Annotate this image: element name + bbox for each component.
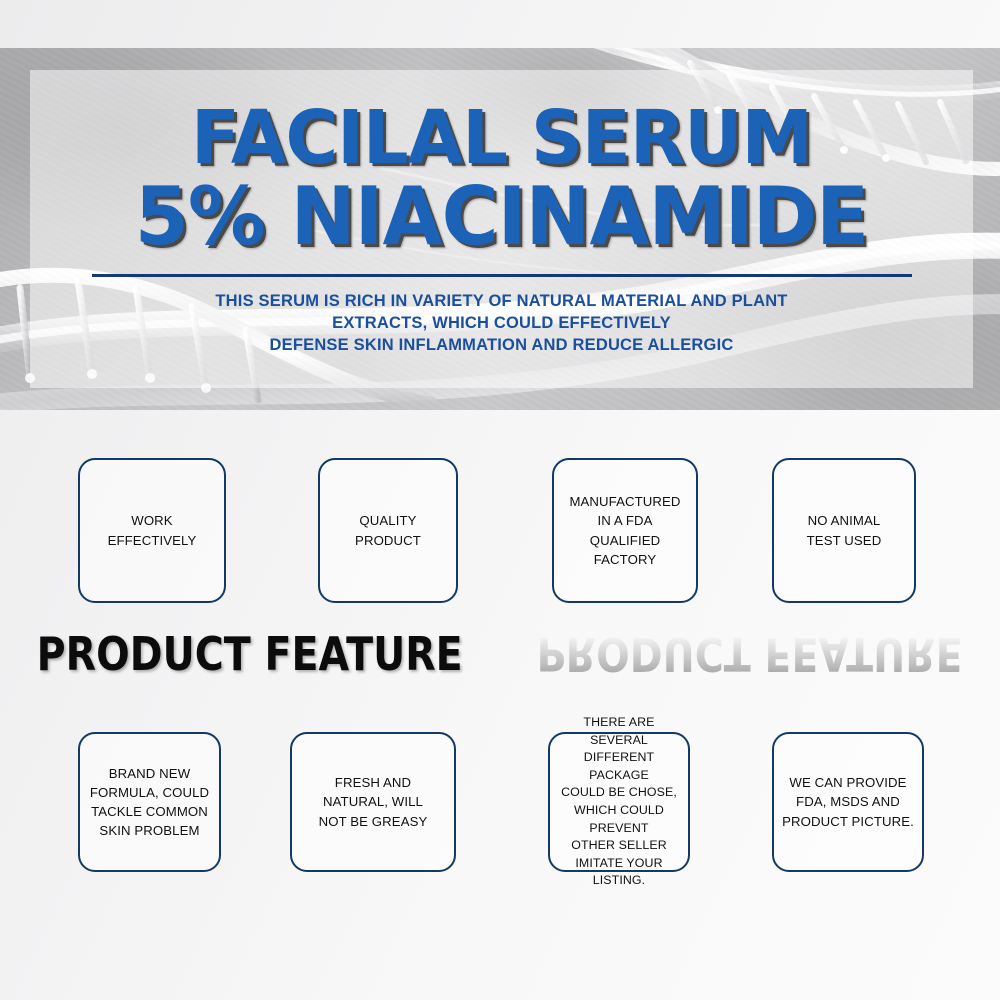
feature-box-package-options: THERE ARE SEVERAL DIFFERENT PACKAGE COUL… <box>548 732 690 872</box>
feature-box-fda-factory: MANUFACTURED IN A FDA QUALIFIED FACTORY <box>552 458 698 603</box>
product-title-line-1: FACILAL SERUM <box>44 70 959 175</box>
title-divider <box>92 274 912 277</box>
feature-box-label: QUALITY PRODUCT <box>355 511 421 549</box>
feature-box-label: FRESH AND NATURAL, WILL NOT BE GREASY <box>319 773 428 830</box>
feature-box-brand-new-formula: BRAND NEW FORMULA, COULD TACKLE COMMON S… <box>78 732 221 872</box>
feature-box-label: NO ANIMAL TEST USED <box>807 511 882 549</box>
feature-box-work-effectively: WORK EFFECTIVELY <box>78 458 226 603</box>
subtitle-line-1: THIS SERUM IS RICH IN VARIETY OF NATURAL… <box>30 291 973 313</box>
header-subtitle: THIS SERUM IS RICH IN VARIETY OF NATURAL… <box>30 291 973 356</box>
header-title-block: FACILAL SERUM 5% NIACINAMIDE THIS SERUM … <box>30 70 973 357</box>
section-heading-reflection: PRODUCT FEATURE <box>537 631 963 677</box>
feature-box-label: MANUFACTURED IN A FDA QUALIFIED FACTORY <box>569 492 680 569</box>
feature-box-fresh-and-natural: FRESH AND NATURAL, WILL NOT BE GREASY <box>290 732 456 872</box>
feature-box-quality-product: QUALITY PRODUCT <box>318 458 458 603</box>
product-title-line-2: 5% NIACINAMIDE <box>44 175 959 256</box>
feature-box-label: BRAND NEW FORMULA, COULD TACKLE COMMON S… <box>90 764 209 841</box>
infographic-page: FACILAL SERUM 5% NIACINAMIDE THIS SERUM … <box>0 0 1000 1000</box>
section-heading-text: PRODUCT FEATURE <box>37 631 463 677</box>
feature-box-fda-msds-documents: WE CAN PROVIDE FDA, MSDS AND PRODUCT PIC… <box>772 732 924 872</box>
section-heading-product-feature: PRODUCT FEATURE PRODUCT FEATURE <box>0 630 1000 677</box>
subtitle-line-2: EXTRACTS, WHICH COULD EFFECTIVELY <box>30 313 973 335</box>
header-photo-band: FACILAL SERUM 5% NIACINAMIDE THIS SERUM … <box>0 48 1000 410</box>
subtitle-line-3: DEFENSE SKIN INFLAMMATION AND REDUCE ALL… <box>30 335 973 357</box>
feature-box-label: WORK EFFECTIVELY <box>108 511 197 549</box>
feature-box-label: WE CAN PROVIDE FDA, MSDS AND PRODUCT PIC… <box>782 773 914 830</box>
feature-box-label: THERE ARE SEVERAL DIFFERENT PACKAGE COUL… <box>558 714 680 890</box>
feature-box-no-animal-test: NO ANIMAL TEST USED <box>772 458 916 603</box>
